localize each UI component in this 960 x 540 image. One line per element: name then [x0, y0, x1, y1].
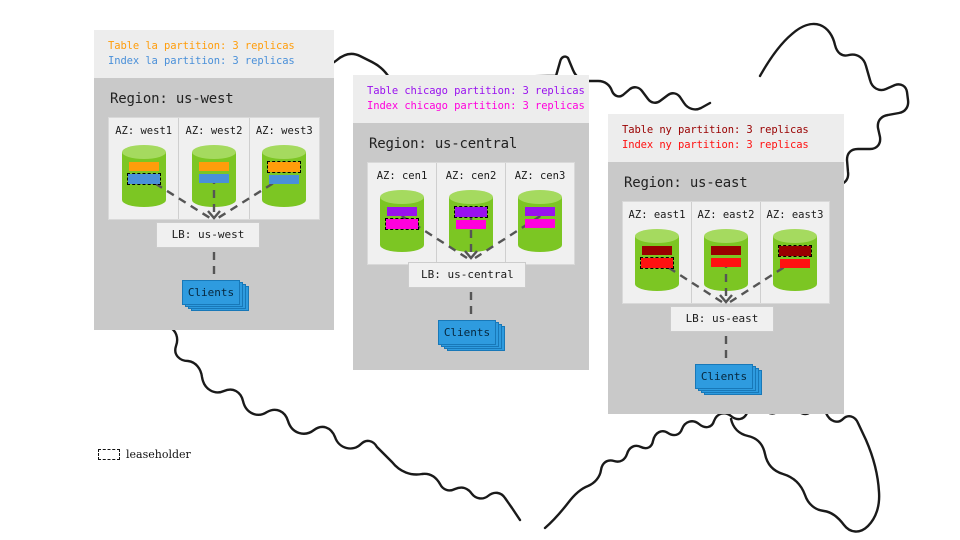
index-partition-line-us-west: Index la partition: 3 replicas	[108, 54, 320, 69]
clients-stack-us-central[interactable]: Clients	[438, 320, 508, 352]
database-cylinder-icon	[262, 145, 306, 207]
leaseholder-swatch-icon	[98, 449, 120, 460]
clients-label[interactable]: Clients	[182, 280, 240, 305]
load-balancer-box-us-west[interactable]: LB: us-west	[156, 222, 260, 248]
replica-bar-table-leaseholder	[455, 207, 487, 217]
az-label: AZ: cen2	[446, 170, 497, 182]
legend: leaseholder	[98, 448, 191, 461]
replica-bar-table	[711, 246, 741, 255]
az-column-cen3: AZ: cen3	[506, 163, 574, 264]
replica-bars	[262, 162, 306, 184]
replica-bars	[518, 207, 562, 228]
clients-label[interactable]: Clients	[695, 364, 753, 389]
replica-bar-index-leaseholder	[386, 219, 418, 229]
az-container-us-east: AZ: east1AZ: east2AZ: east3	[622, 201, 830, 304]
replica-bar-table-leaseholder	[779, 246, 811, 256]
region-title-us-central: Region: us-central	[353, 123, 589, 162]
clients-label[interactable]: Clients	[438, 320, 496, 345]
az-column-cen1: AZ: cen1	[368, 163, 437, 264]
replica-bars	[635, 246, 679, 268]
replica-bar-table	[387, 207, 417, 216]
table-partition-line-us-west: Table la partition: 3 replicas	[108, 39, 320, 54]
table-partition-line-us-central: Table chicago partition: 3 replicas	[367, 84, 575, 99]
legend-label: leaseholder	[126, 448, 191, 461]
replica-bars	[704, 246, 748, 267]
region-title-us-east: Region: us-east	[608, 162, 844, 201]
index-partition-line-us-east: Index ny partition: 3 replicas	[622, 138, 830, 153]
database-cylinder-icon	[380, 190, 424, 252]
region-title-us-west: Region: us-west	[94, 78, 334, 117]
replica-bar-index-leaseholder	[128, 174, 160, 184]
replica-bars	[192, 162, 236, 183]
replica-bars	[773, 246, 817, 268]
index-partition-line-us-central: Index chicago partition: 3 replicas	[367, 99, 575, 114]
az-label: AZ: east2	[698, 209, 755, 221]
az-label: AZ: west1	[115, 125, 172, 137]
database-cylinder-icon	[635, 229, 679, 291]
az-container-us-central: AZ: cen1AZ: cen2AZ: cen3	[367, 162, 575, 265]
replica-bar-table	[199, 162, 229, 171]
az-column-west1: AZ: west1	[109, 118, 179, 219]
map-path-gulf-florida	[545, 403, 879, 532]
database-cylinder-icon	[122, 145, 166, 207]
partition-header-us-west: Table la partition: 3 replicasIndex la p…	[94, 30, 334, 78]
database-cylinder-icon	[449, 190, 493, 252]
replica-bar-table	[129, 162, 159, 171]
az-label: AZ: west3	[256, 125, 313, 137]
region-panel-us-east: Table ny partition: 3 replicasIndex ny p…	[608, 114, 844, 414]
replica-bar-index	[525, 219, 555, 228]
replica-bars	[449, 207, 493, 229]
az-label: AZ: cen1	[377, 170, 428, 182]
replica-bar-table	[525, 207, 555, 216]
region-panel-us-west: Table la partition: 3 replicasIndex la p…	[94, 30, 334, 330]
load-balancer-box-us-east[interactable]: LB: us-east	[670, 306, 774, 332]
replica-bar-index	[199, 174, 229, 183]
replica-bar-index-leaseholder	[641, 258, 673, 268]
clients-stack-us-east[interactable]: Clients	[695, 364, 765, 396]
az-column-cen2: AZ: cen2	[437, 163, 506, 264]
diagram-canvas: Table la partition: 3 replicasIndex la p…	[0, 0, 960, 540]
replica-bars	[380, 207, 424, 229]
region-panel-us-central: Table chicago partition: 3 replicasIndex…	[353, 75, 589, 370]
clients-stack-us-west[interactable]: Clients	[182, 280, 252, 312]
database-cylinder-icon	[518, 190, 562, 252]
az-label: AZ: west2	[186, 125, 243, 137]
replica-bar-table-leaseholder	[268, 162, 300, 172]
az-column-east2: AZ: east2	[692, 202, 761, 303]
replica-bar-index	[269, 175, 299, 184]
az-label: AZ: east3	[767, 209, 824, 221]
az-column-west3: AZ: west3	[250, 118, 319, 219]
replica-bar-index	[780, 259, 810, 268]
database-cylinder-icon	[704, 229, 748, 291]
az-column-west2: AZ: west2	[179, 118, 249, 219]
partition-header-us-east: Table ny partition: 3 replicasIndex ny p…	[608, 114, 844, 162]
database-cylinder-icon	[192, 145, 236, 207]
table-partition-line-us-east: Table ny partition: 3 replicas	[622, 123, 830, 138]
database-cylinder-icon	[773, 229, 817, 291]
load-balancer-box-us-central[interactable]: LB: us-central	[408, 262, 526, 288]
replica-bar-table	[642, 246, 672, 255]
az-column-east1: AZ: east1	[623, 202, 692, 303]
az-container-us-west: AZ: west1AZ: west2AZ: west3	[108, 117, 320, 220]
az-label: AZ: east1	[629, 209, 686, 221]
az-label: AZ: cen3	[515, 170, 566, 182]
replica-bar-index	[456, 220, 486, 229]
partition-header-us-central: Table chicago partition: 3 replicasIndex…	[353, 75, 589, 123]
az-column-east3: AZ: east3	[761, 202, 829, 303]
replica-bar-index	[711, 258, 741, 267]
replica-bars	[122, 162, 166, 184]
